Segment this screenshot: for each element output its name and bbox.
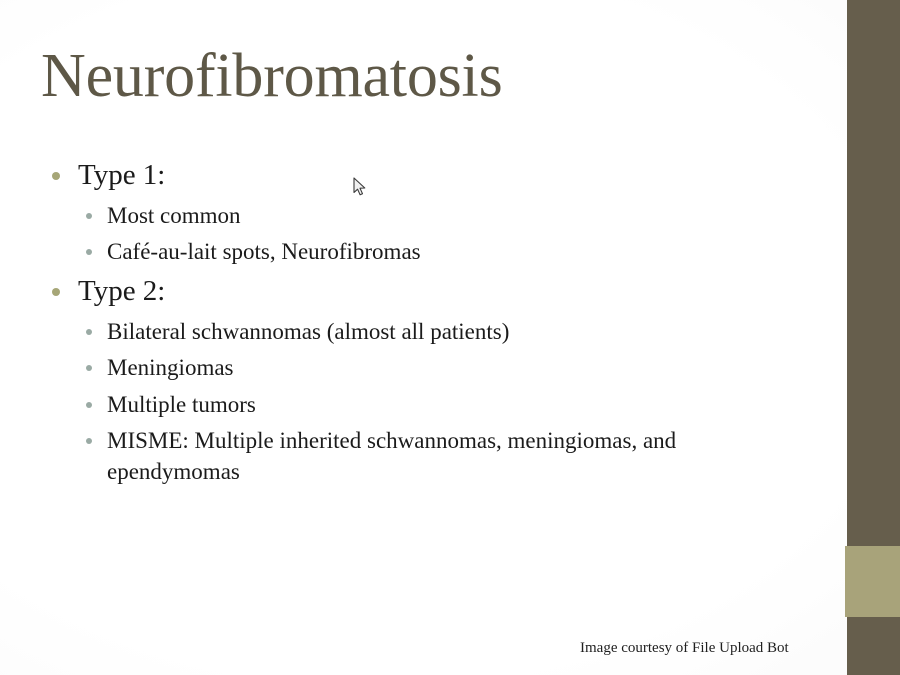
list-item-label: Bilateral schwannomas (almost all patien… xyxy=(107,319,509,344)
list-item-label: Meningiomas xyxy=(107,355,234,380)
bullet-level1-icon xyxy=(52,172,60,180)
list-item-level2: Café-au-lait spots, Neurofibromas xyxy=(0,237,810,267)
bullet-level2-icon xyxy=(86,329,92,335)
sidebar-band-bottom xyxy=(847,617,900,675)
image-credit-text: Image courtesy of File Upload Bot xyxy=(580,640,789,657)
bullet-level2-icon xyxy=(86,249,92,255)
list-item-label: Type 2: xyxy=(78,275,165,307)
list-item-label: Café-au-lait spots, Neurofibromas xyxy=(107,239,421,264)
bullet-level2-icon xyxy=(86,365,92,371)
bullet-level2-icon xyxy=(86,402,92,408)
list-item-label: Most common xyxy=(107,203,241,228)
bullet-level2-icon xyxy=(86,213,92,219)
list-item-level1: Type 1: xyxy=(0,157,810,195)
list-item-label: MISME: Multiple inherited schwannomas, m… xyxy=(107,428,676,483)
list-item-label: Multiple tumors xyxy=(107,392,256,417)
mouse-cursor-arrow-icon xyxy=(353,177,367,197)
list-item-level2: Most common xyxy=(0,201,810,231)
list-item-level2: Meningiomas xyxy=(0,353,810,383)
list-item-level1: Type 2: xyxy=(0,273,810,311)
presentation-slide: Neurofibromatosis Type 1: Most common Ca… xyxy=(0,0,900,675)
sidebar-band-accent xyxy=(845,546,900,617)
bullet-level2-icon xyxy=(86,438,92,444)
list-item-level2: MISME: Multiple inherited schwannomas, m… xyxy=(0,426,810,487)
slide-title: Neurofibromatosis xyxy=(41,45,503,107)
list-item-label: Type 1: xyxy=(78,159,165,191)
list-item-level2: Multiple tumors xyxy=(0,390,810,420)
slide-body-list: Type 1: Most common Café-au-lait spots, … xyxy=(0,155,810,493)
sidebar-band-top xyxy=(847,0,900,546)
bullet-level1-icon xyxy=(52,288,60,296)
list-item-level2: Bilateral schwannomas (almost all patien… xyxy=(0,317,810,347)
